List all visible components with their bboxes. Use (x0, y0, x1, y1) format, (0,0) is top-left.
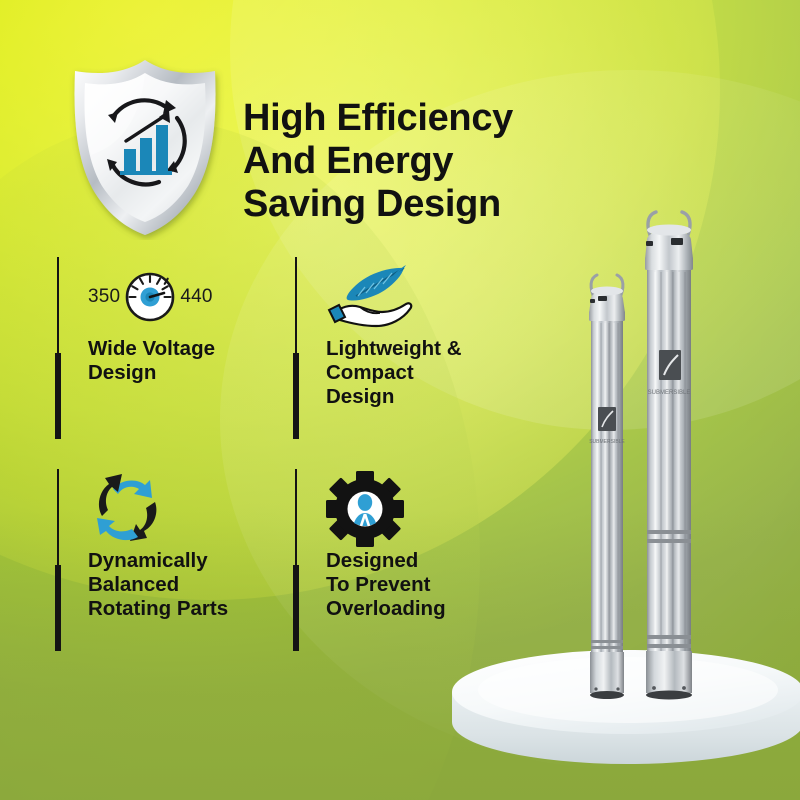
headline-line-2: And Energy (243, 140, 663, 183)
pump-pair-illustration: SUBMERSIBLE (545, 195, 800, 725)
feature-title: Dynamically Balanced Rotating Parts (88, 549, 288, 622)
feature-dynamically-balanced-rotating-parts: Dynamically Balanced Rotating Parts (54, 467, 289, 667)
feature-divider (292, 469, 299, 651)
feature-divider (54, 469, 61, 651)
feature-title: Designed To Prevent Overloading (326, 549, 526, 622)
headline-line-1: High Efficiency (243, 97, 663, 140)
feature-icon-slot (88, 473, 170, 545)
feature-divider (292, 257, 299, 439)
voltage-range-row: 350 (88, 269, 213, 325)
feature-icon-slot (326, 261, 416, 333)
svg-text:SUBMERSIBLE: SUBMERSIBLE (648, 390, 691, 396)
short-pump: SUBMERSIBLE (589, 275, 625, 699)
feature-title: Lightweight & Compact Design (326, 337, 526, 410)
feather-in-hand-icon (326, 262, 416, 332)
feature-icon-slot (326, 473, 404, 545)
shield-bar-chart-cycle-icon (62, 54, 228, 240)
efficiency-shield-badge (62, 54, 228, 240)
gear-person-icon (326, 471, 404, 547)
stainless-steel-submersible-pump: SUBMERSIBLE (545, 195, 800, 725)
voltage-max-value: 440 (180, 286, 212, 308)
voltage-gauge-icon (122, 269, 178, 325)
feature-wide-voltage-design: 350 (54, 255, 289, 455)
svg-text:SUBMERSIBLE: SUBMERSIBLE (589, 439, 625, 445)
voltage-min-value: 350 (88, 286, 120, 308)
feature-lightweight-compact-design: Lightweight & Compact Design (292, 255, 527, 455)
feature-designed-to-prevent-overloading: Designed To Prevent Overloading (292, 467, 527, 667)
feature-grid: 350 (54, 255, 524, 665)
tall-pump: SUBMERSIBLE (645, 212, 693, 700)
rotating-arrows-cycle-icon (88, 471, 170, 547)
feature-divider (54, 257, 61, 439)
product-feature-poster: High Efficiency And Energy Saving Design… (0, 0, 800, 800)
feature-title: Wide Voltage Design (88, 337, 288, 385)
feature-icon-slot: 350 (88, 261, 213, 333)
